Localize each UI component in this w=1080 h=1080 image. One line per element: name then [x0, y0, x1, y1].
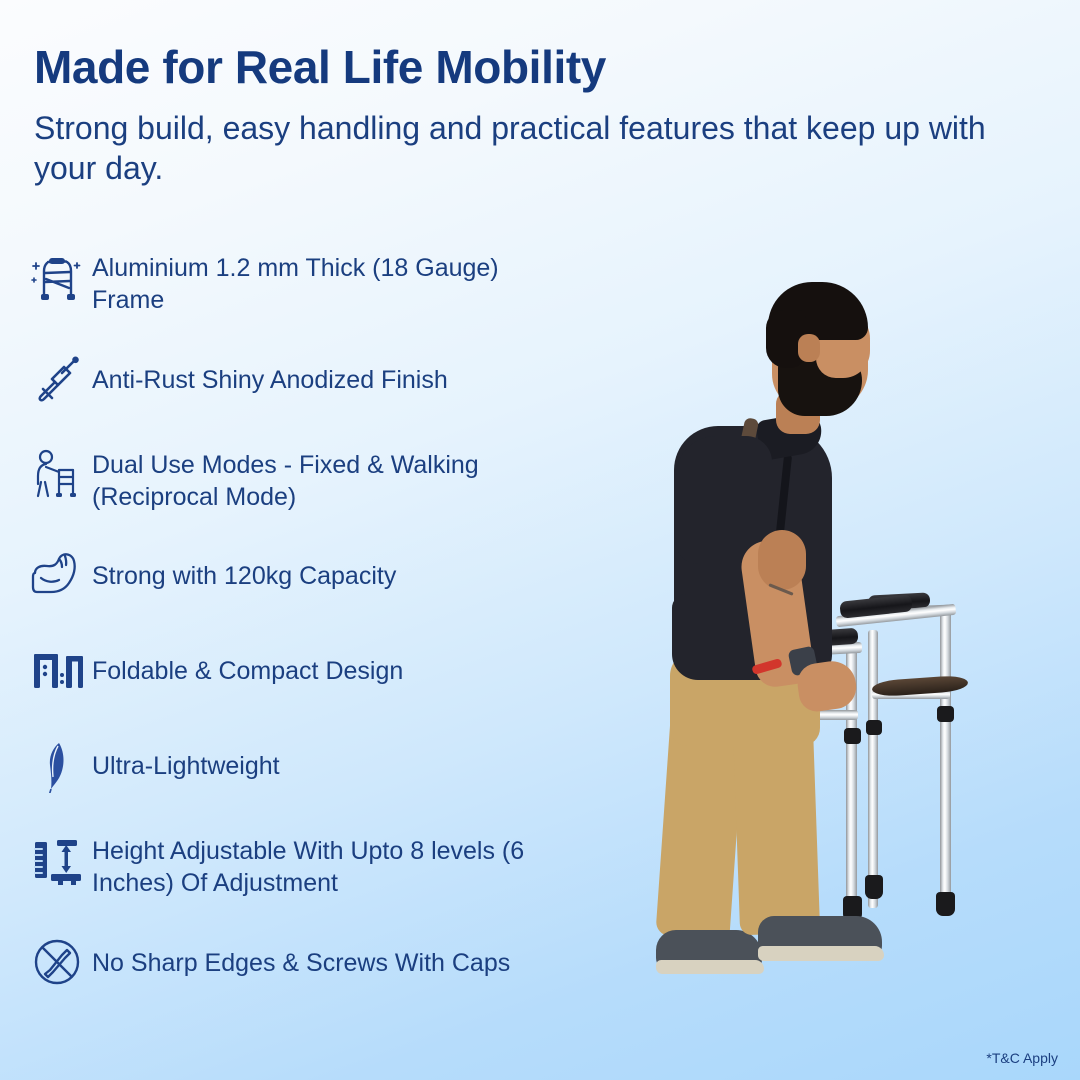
feature-item-lightweight: Ultra-Lightweight	[26, 734, 626, 798]
walker-rear-leg-left	[868, 630, 878, 908]
feature-item-height-adjustable: Height Adjustable With Upto 8 levels (6 …	[26, 829, 626, 900]
feature-item-anodized-finish: Anti-Rust Shiny Anodized Finish	[26, 348, 626, 412]
flexed-bicep-icon	[26, 544, 88, 606]
feature-label: Foldable & Compact Design	[88, 639, 403, 687]
walker-sparkle-icon	[26, 246, 88, 308]
feature-label: Aluminium 1.2 mm Thick (18 Gauge) Frame	[88, 246, 562, 317]
feature-label: No Sharp Edges & Screws With Caps	[88, 931, 510, 979]
page-subtitle: Strong build, easy handling and practica…	[34, 108, 999, 190]
walker-front-collar-right	[844, 728, 861, 744]
feature-item-weight-capacity: Strong with 120kg Capacity	[26, 544, 626, 608]
promo-poster: Made for Real Life Mobility Strong build…	[0, 0, 1080, 1080]
subject-upper-arm	[758, 530, 806, 590]
feature-label: Height Adjustable With Upto 8 levels (6 …	[88, 829, 562, 900]
product-photo	[640, 258, 1080, 978]
page-title: Made for Real Life Mobility	[34, 42, 1024, 94]
feature-label: Dual Use Modes - Fixed & Walking (Recipr…	[88, 443, 562, 514]
feature-item-no-sharp-edges: No Sharp Edges & Screws With Caps	[26, 931, 626, 995]
subject-ear	[798, 334, 820, 362]
feature-item-dual-use-modes: Dual Use Modes - Fixed & Walking (Recipr…	[26, 443, 626, 514]
no-sharp-edges-icon	[26, 931, 88, 993]
feature-label: Anti-Rust Shiny Anodized Finish	[88, 348, 448, 396]
walker-rear-tip-left	[865, 875, 883, 899]
terms-disclaimer: *T&C Apply	[986, 1050, 1058, 1066]
feature-label: Ultra-Lightweight	[88, 734, 280, 782]
walker-rear-collar-right	[937, 706, 954, 722]
header-block: Made for Real Life Mobility Strong build…	[34, 42, 1024, 189]
walker-rear-collar-left	[866, 720, 882, 735]
feature-label: Strong with 120kg Capacity	[88, 544, 396, 592]
ruler-arrow-icon	[26, 829, 88, 891]
feature-item-aluminium-frame: Aluminium 1.2 mm Thick (18 Gauge) Frame	[26, 246, 626, 317]
subject-front-sole	[758, 946, 884, 961]
person-with-walker-icon	[26, 443, 88, 505]
feature-item-foldable-design: Foldable & Compact Design	[26, 639, 626, 703]
walker-rear-leg-right	[940, 610, 951, 910]
subject-rear-sole	[656, 960, 764, 974]
feather-icon	[26, 734, 88, 796]
walker-top-curve	[872, 675, 969, 698]
foldable-frame-icon	[26, 639, 88, 701]
walker-rear-tip-right	[936, 892, 955, 916]
feature-list: Aluminium 1.2 mm Thick (18 Gauge) Frame …	[26, 246, 626, 1026]
paintbrush-icon	[26, 348, 88, 410]
